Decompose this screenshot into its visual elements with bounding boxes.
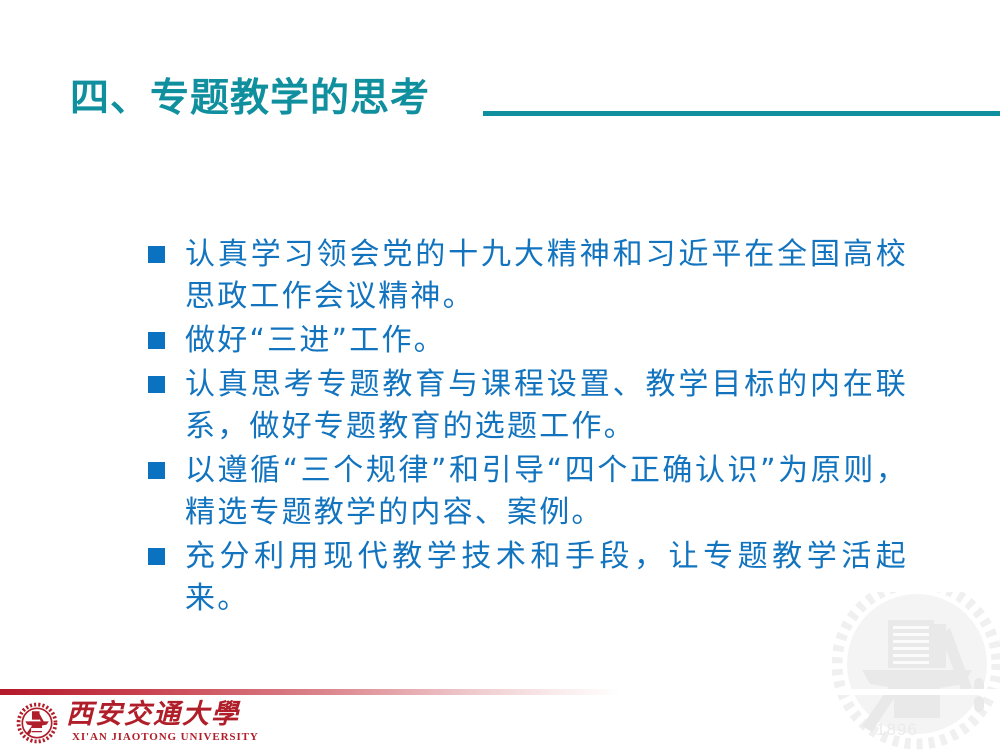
university-name-en: XI'AN JIAOTONG UNIVERSITY [72, 731, 259, 743]
list-item-text: 认真思考专题教育与课程设置、教学目标的内在联系，做好专题教育的选题工作。 [185, 364, 908, 448]
square-bullet-icon [148, 376, 165, 393]
watermark-year-label: 1896 [876, 720, 918, 740]
square-bullet-icon [148, 462, 165, 479]
bullet-list: 认真学习领会党的十九大精神和习近平在全国高校思政工作会议精神。 做好“三进”工作… [148, 234, 908, 622]
list-item: 以遵循“三个规律”和引导“四个正确认识”为原则，精选专题教学的内容、案例。 [148, 450, 908, 534]
square-bullet-icon [148, 246, 165, 263]
list-item-text: 以遵循“三个规律”和引导“四个正确认识”为原则，精选专题教学的内容、案例。 [185, 450, 908, 534]
xjtu-gear-anvil-emblem-icon [16, 702, 58, 744]
list-item-text: 认真学习领会党的十九大精神和习近平在全国高校思政工作会议精神。 [185, 234, 908, 318]
page-title: 四、专题教学的思考 [70, 76, 430, 122]
list-item-text: 做好“三进”工作。 [185, 320, 908, 362]
square-bullet-icon [148, 548, 165, 565]
footer-divider-rule [0, 689, 1000, 695]
university-logo: 西安交通大學 XI'AN JIAOTONG UNIVERSITY [16, 699, 246, 747]
list-item: 认真思考专题教育与课程设置、教学目标的内在联系，做好专题教育的选题工作。 [148, 364, 908, 448]
list-item: 充分利用现代教学技术和手段，让专题教学活起来。 [148, 536, 908, 620]
slide-header: 四、专题教学的思考 [0, 76, 1000, 128]
list-item: 认真学习领会党的十九大精神和习近平在全国高校思政工作会议精神。 [148, 234, 908, 318]
presentation-slide: 四、专题教学的思考 认真学习领会党的十九大精神和习近平在全国高校思政工作会议精神… [0, 0, 1000, 750]
list-item: 做好“三进”工作。 [148, 320, 908, 362]
title-divider-rule [483, 111, 1000, 116]
university-name-cn: 西安交通大學 [66, 699, 240, 731]
list-item-text: 充分利用现代教学技术和手段，让专题教学活起来。 [185, 536, 908, 620]
square-bullet-icon [148, 332, 165, 349]
